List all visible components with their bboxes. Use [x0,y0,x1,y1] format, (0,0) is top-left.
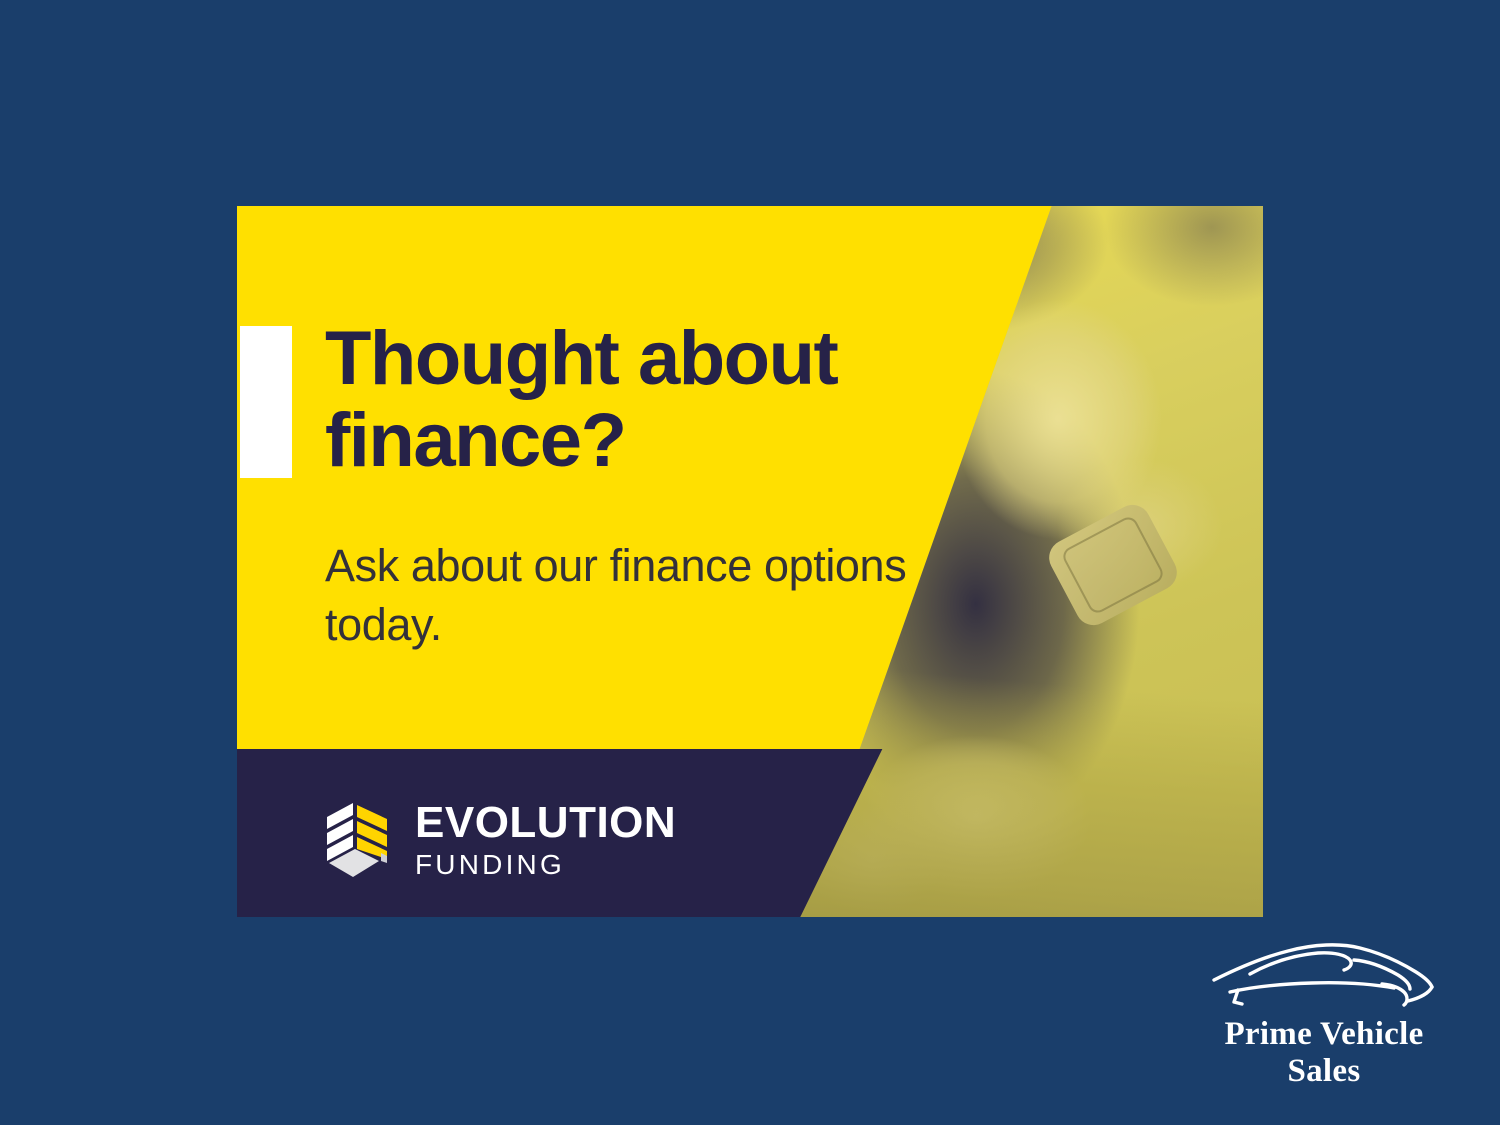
prime-vehicle-sales-logo: Prime Vehicle Sales [1194,932,1454,1091]
evolution-subtitle: FUNDING [415,851,676,879]
evolution-funding-logo: EVOLUTION FUNDING [323,799,676,881]
page-title: Thought about finance? [325,318,965,482]
evolution-cube-icon [323,799,395,881]
brand-name-line2: Sales [1287,1053,1360,1089]
brand-name: Prime Vehicle Sales [1194,1016,1454,1091]
car-outline-icon [1204,932,1444,1010]
subtitle-text: Ask about our finance options today. [325,536,925,655]
accent-bar [240,326,292,478]
brand-name-line1: Prime Vehicle [1224,1016,1423,1052]
evolution-wordmark: EVOLUTION FUNDING [415,801,676,879]
promo-card: Thought about finance? Ask about our fin… [237,206,1263,917]
evolution-name: EVOLUTION [415,801,676,845]
